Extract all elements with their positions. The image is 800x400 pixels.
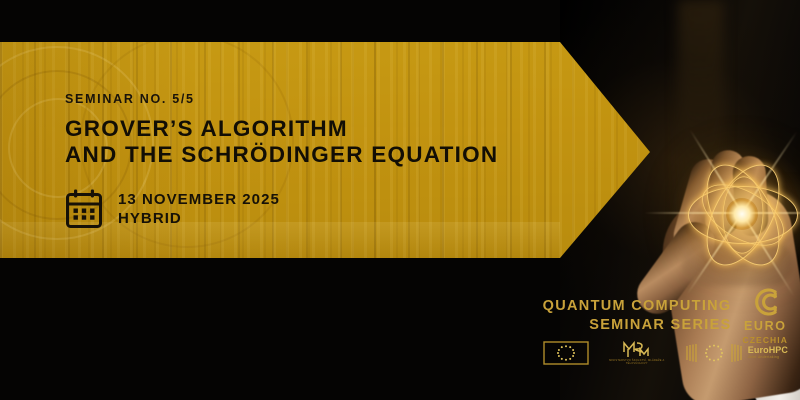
eurohpc-wordmark: EuroHPC Joint Undertaking — [748, 346, 788, 360]
euro-czechia-logo: EURO CZECHIA — [743, 286, 788, 345]
event-format-value: HYBRID — [118, 209, 280, 228]
event-date-block: 13 NOVEMBER 2025 HYBRID — [64, 188, 280, 230]
euro-label: EURO — [744, 320, 787, 333]
eu-flag-logo — [543, 341, 589, 365]
series-name: QUANTUM COMPUTING SEMINAR SERIES — [543, 297, 732, 334]
seminar-title-line2: AND THE SCHRÖDINGER EQUATION — [65, 142, 535, 168]
calendar-icon — [64, 188, 104, 230]
series-name-line2: SEMINAR SERIES — [543, 316, 732, 335]
event-date-text: 13 NOVEMBER 2025 HYBRID — [118, 190, 280, 228]
series-branding: QUANTUM COMPUTING SEMINAR SERIES EURO CZ… — [543, 286, 788, 345]
msmt-sublabel: MINISTERSTVO ŠKOLSTVÍ, MLÁDEŽE A TĚLOVÚC… — [607, 359, 667, 366]
event-date-value: 13 NOVEMBER 2025 — [118, 190, 280, 209]
eurohpc-name: EuroHPC — [748, 346, 788, 355]
eurohpc-emblem-icon — [685, 341, 743, 365]
seminar-banner: SEMINAR NO. 5/5 GROVER’S ALGORITHM AND T… — [0, 0, 800, 400]
glowing-atom-icon — [686, 158, 798, 270]
euro-czechia-c-logo-icon — [746, 286, 784, 318]
series-name-line1: QUANTUM COMPUTING — [543, 297, 732, 316]
atom-nucleus — [726, 198, 758, 230]
seminar-number-label: SEMINAR NO. 5/5 — [65, 92, 535, 106]
msmt-logo: MINISTERSTVO ŠKOLSTVÍ, MLÁDEŽE A TĚLOVÚC… — [607, 340, 667, 366]
eurohpc-logo: EuroHPC Joint Undertaking — [685, 341, 788, 365]
european-union-flag-icon — [543, 341, 589, 365]
headline-block: SEMINAR NO. 5/5 GROVER’S ALGORITHM AND T… — [65, 92, 535, 168]
msmt-ministry-icon — [620, 340, 654, 359]
funder-logos: MINISTERSTVO ŠKOLSTVÍ, MLÁDEŽE A TĚLOVÚC… — [543, 340, 788, 366]
seminar-title-line1: GROVER’S ALGORITHM — [65, 116, 535, 142]
eurohpc-sublabel: Joint Undertaking — [748, 356, 788, 360]
